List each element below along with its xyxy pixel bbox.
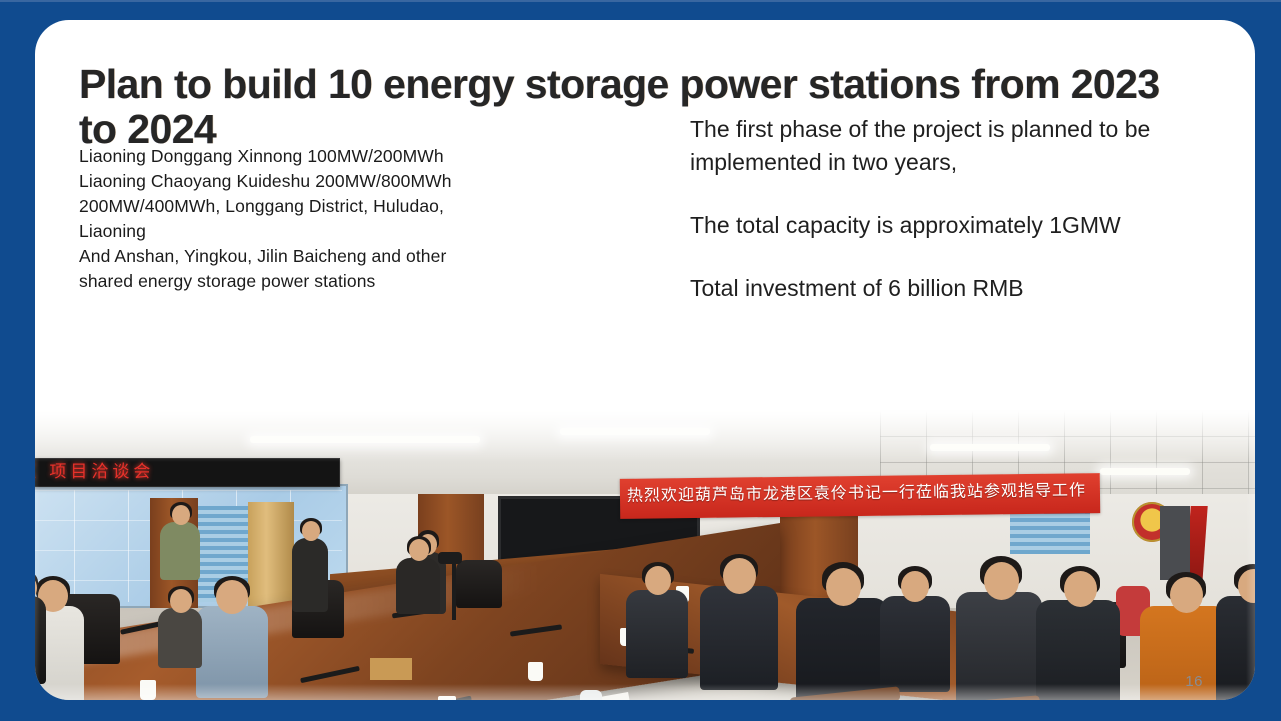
right-paragraph: Total investment of 6 billion RMB xyxy=(690,272,1160,305)
left-line: And Anshan, Yingkou, Jilin Baicheng and … xyxy=(79,244,599,269)
photo-cup xyxy=(140,680,156,700)
right-paragraph: The total capacity is approximately 1GMW xyxy=(690,209,1160,242)
right-text-block: The first phase of the project is planne… xyxy=(690,113,1160,305)
photo-person xyxy=(1036,600,1120,700)
photo-tissue-box xyxy=(370,658,412,680)
photo-cup xyxy=(438,696,456,700)
photo-person xyxy=(626,590,688,678)
left-text-block: Liaoning Donggang Xinnong 100MW/200MWh L… xyxy=(79,144,599,294)
photo-cabinet xyxy=(1160,506,1190,580)
photo-person-standing xyxy=(160,522,200,580)
photo-person xyxy=(880,596,950,692)
photo-cup xyxy=(528,662,543,681)
photo-person xyxy=(158,608,202,668)
left-line: 200MW/400MWh, Longgang District, Huludao… xyxy=(79,194,599,219)
photo-person xyxy=(1216,596,1255,700)
photo-person xyxy=(956,592,1042,700)
photo-person xyxy=(35,596,46,684)
photo-person-standing xyxy=(292,538,328,612)
slide-white-card: Plan to build 10 energy storage power st… xyxy=(35,20,1255,700)
photo-tripod xyxy=(452,560,456,620)
right-paragraph: The first phase of the project is planne… xyxy=(690,113,1160,179)
photo-chair xyxy=(456,560,502,608)
photo-bottle xyxy=(580,690,602,700)
photo-person xyxy=(196,606,268,698)
photo-person xyxy=(796,598,888,700)
left-line: shared energy storage power stations xyxy=(79,269,599,294)
meeting-photo: 区 项目洽谈会 热烈欢迎葫芦岛市龙港区袁伶书记一行莅临我站参观指导工作 xyxy=(35,410,1255,700)
photo-led-sign: 区 项目洽谈会 xyxy=(35,458,340,487)
photo-ceiling-light xyxy=(250,436,480,443)
photo-banner-text: 热烈欢迎葫芦岛市龙港区袁伶书记一行莅临我站参观指导工作 xyxy=(627,480,1086,506)
photo-camera xyxy=(438,552,462,564)
photo-curtain xyxy=(248,502,294,614)
left-line: Liaoning Donggang Xinnong 100MW/200MWh xyxy=(79,144,599,169)
left-line: Liaoning Chaoyang Kuideshu 200MW/800MWh xyxy=(79,169,599,194)
left-line: Liaoning xyxy=(79,219,599,244)
photo-person xyxy=(1140,606,1228,700)
photo-ceiling-light xyxy=(930,444,1050,451)
slide-number: 16 xyxy=(1185,673,1203,690)
photo-person xyxy=(396,558,440,614)
photo-ceiling-light xyxy=(560,428,710,435)
slide-blue-frame: Plan to build 10 energy storage power st… xyxy=(0,0,1281,721)
photo-welcome-banner: 热烈欢迎葫芦岛市龙港区袁伶书记一行莅临我站参观指导工作 xyxy=(620,473,1100,519)
photo-led-sign-text: 区 项目洽谈会 xyxy=(35,461,154,483)
photo-person xyxy=(700,586,778,690)
meeting-photo-container: 区 项目洽谈会 热烈欢迎葫芦岛市龙港区袁伶书记一行莅临我站参观指导工作 xyxy=(35,410,1255,700)
photo-ceiling-light xyxy=(1100,468,1190,475)
